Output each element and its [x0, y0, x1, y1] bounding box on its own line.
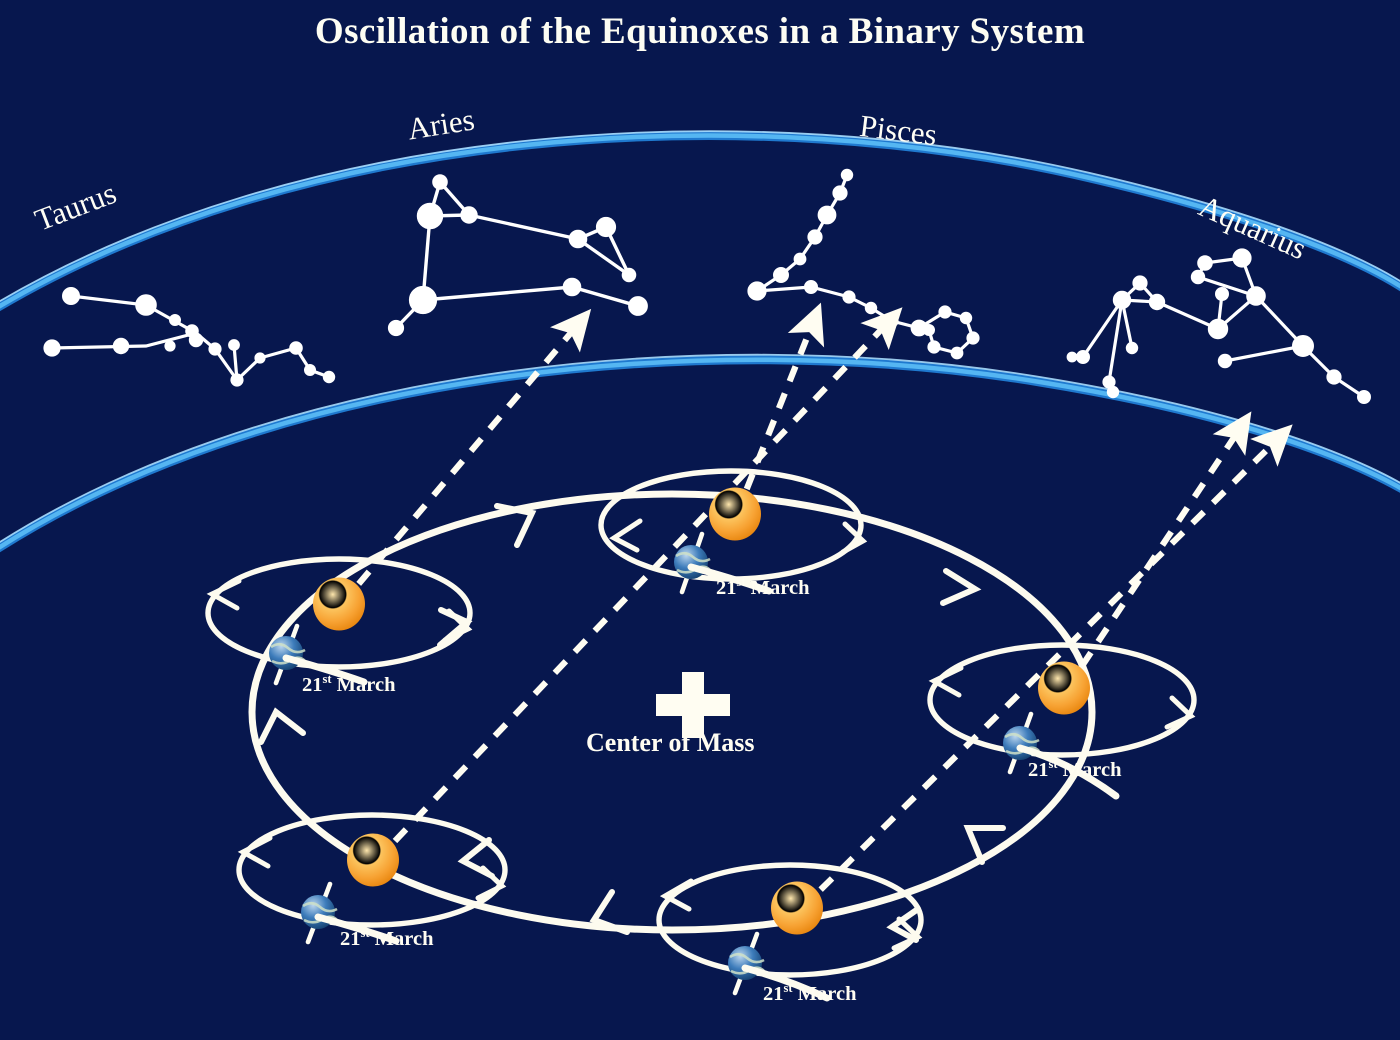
diagram-svg: [0, 0, 1400, 1040]
date-label-pos-right: 21st March: [1028, 757, 1121, 782]
constellation-taurus: [45, 289, 334, 385]
sun-icon: [771, 882, 823, 935]
local-orbit-arrowhead: [1167, 698, 1191, 727]
sightline-to-aquarius-a: [1066, 418, 1247, 690]
local-orbit-arrowhead: [665, 881, 691, 909]
sightline-to-aquarius-b: [800, 430, 1287, 910]
ecliptic-band-outer: [0, 131, 1400, 318]
diagram-canvas: Oscillation of the Equinoxes in a Binary…: [0, 0, 1400, 1040]
station-pos-left-upper: [208, 559, 470, 683]
local-orbit-arrowhead: [212, 581, 239, 608]
constellation-aquarius: [1068, 250, 1369, 402]
date-label-pos-left-lower: 21st March: [340, 926, 433, 951]
station-pos-left-lower: [239, 815, 505, 942]
station-pos-right: [930, 645, 1194, 772]
constellation-pisces: [749, 170, 978, 357]
sun-icon: [709, 488, 761, 541]
ecliptic-band-inner: [0, 355, 1400, 560]
local-orbit-arrowhead: [614, 521, 640, 550]
center-of-mass-label: Center of Mass: [586, 728, 754, 758]
sun-icon: [347, 834, 399, 887]
local-orbit-arrowhead: [243, 838, 270, 866]
date-label-pos-bottom: 21st March: [763, 981, 856, 1006]
sun-icon: [313, 578, 365, 631]
constellation-aries: [390, 176, 647, 335]
date-label-pos-left-upper: 21st March: [302, 672, 395, 697]
sun-icon: [1038, 662, 1090, 715]
date-label-pos-top: 21st March: [716, 575, 809, 600]
station-pos-top: [601, 471, 863, 592]
local-orbit-arrowhead: [934, 668, 961, 695]
page-title: Oscillation of the Equinoxes in a Binary…: [0, 10, 1400, 53]
